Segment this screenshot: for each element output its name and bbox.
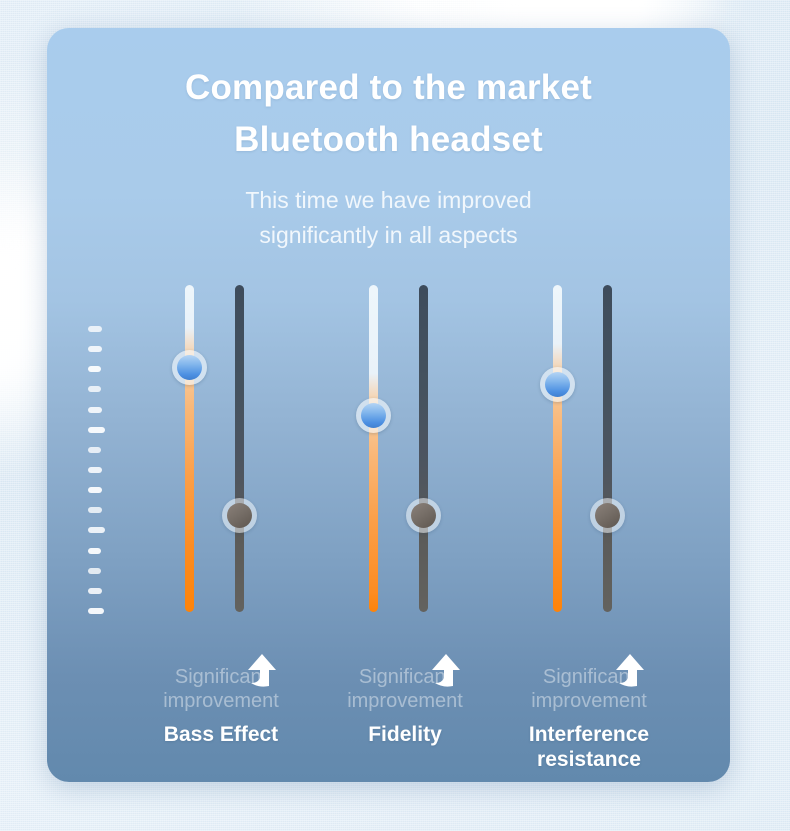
improvement-caption: Significantimprovement bbox=[315, 665, 495, 713]
new-product-slider-track[interactable] bbox=[185, 285, 194, 612]
slider-pair-interference-resistance bbox=[499, 285, 679, 615]
scale-tick bbox=[88, 568, 101, 574]
scale-tick bbox=[88, 366, 101, 372]
improvement-caption-line-2: improvement bbox=[499, 689, 679, 713]
scale-tick bbox=[88, 608, 104, 614]
metric-column-fidelity: SignificantimprovementFidelity bbox=[315, 28, 495, 782]
metric-label-line-1: Fidelity bbox=[305, 722, 505, 747]
market-product-slider-track[interactable] bbox=[235, 285, 244, 612]
improvement-caption: Significantimprovement bbox=[131, 665, 311, 713]
market-product-slider-knob[interactable] bbox=[590, 498, 625, 533]
improvement-caption-line-1: Significant bbox=[499, 665, 679, 689]
new-product-slider-knob[interactable] bbox=[356, 398, 391, 433]
metric-label-interference-resistance: Interferenceresistance bbox=[489, 722, 689, 772]
improvement-caption-line-1: Significant bbox=[131, 665, 311, 689]
scale-tick bbox=[88, 386, 101, 392]
metric-label-line-1: Interference bbox=[489, 722, 689, 747]
improvement-caption-line-2: improvement bbox=[131, 689, 311, 713]
arrow-up-icon bbox=[613, 652, 647, 692]
market-product-slider-track[interactable] bbox=[603, 285, 612, 612]
promo-graphic-stage: Compared to the market Bluetooth headset… bbox=[0, 0, 790, 831]
scale-ticks bbox=[88, 326, 118, 614]
scale-tick bbox=[88, 427, 105, 433]
metric-label-line-2: resistance bbox=[489, 747, 689, 772]
scale-tick bbox=[88, 588, 102, 594]
metric-label-line-1: Bass Effect bbox=[121, 722, 321, 747]
scale-tick bbox=[88, 326, 102, 332]
new-product-slider-knob[interactable] bbox=[540, 367, 575, 402]
metric-label-bass-effect: Bass Effect bbox=[121, 722, 321, 747]
metric-column-interference-resistance: SignificantimprovementInterferenceresist… bbox=[499, 28, 679, 782]
metric-label-fidelity: Fidelity bbox=[305, 722, 505, 747]
improvement-caption-line-1: Significant bbox=[315, 665, 495, 689]
scale-tick bbox=[88, 447, 101, 453]
new-product-slider-track[interactable] bbox=[369, 285, 378, 612]
scale-tick bbox=[88, 407, 102, 413]
metric-column-bass-effect: SignificantimprovementBass Effect bbox=[131, 28, 311, 782]
scale-tick bbox=[88, 487, 102, 493]
slider-pair-fidelity bbox=[315, 285, 495, 615]
scale-tick bbox=[88, 346, 102, 352]
scale-tick bbox=[88, 527, 105, 533]
scale-tick bbox=[88, 548, 101, 554]
slider-pair-bass-effect bbox=[131, 285, 311, 615]
new-product-slider-track[interactable] bbox=[553, 285, 562, 612]
improvement-caption: Significantimprovement bbox=[499, 665, 679, 713]
market-product-slider-knob[interactable] bbox=[406, 498, 441, 533]
arrow-up-icon bbox=[429, 652, 463, 692]
arrow-up-icon bbox=[245, 652, 279, 692]
comparison-card: Compared to the market Bluetooth headset… bbox=[47, 28, 730, 782]
scale-tick bbox=[88, 467, 102, 473]
scale-tick bbox=[88, 507, 102, 513]
improvement-caption-line-2: improvement bbox=[315, 689, 495, 713]
market-product-slider-track[interactable] bbox=[419, 285, 428, 612]
market-product-slider-knob[interactable] bbox=[222, 498, 257, 533]
new-product-slider-knob[interactable] bbox=[172, 350, 207, 385]
